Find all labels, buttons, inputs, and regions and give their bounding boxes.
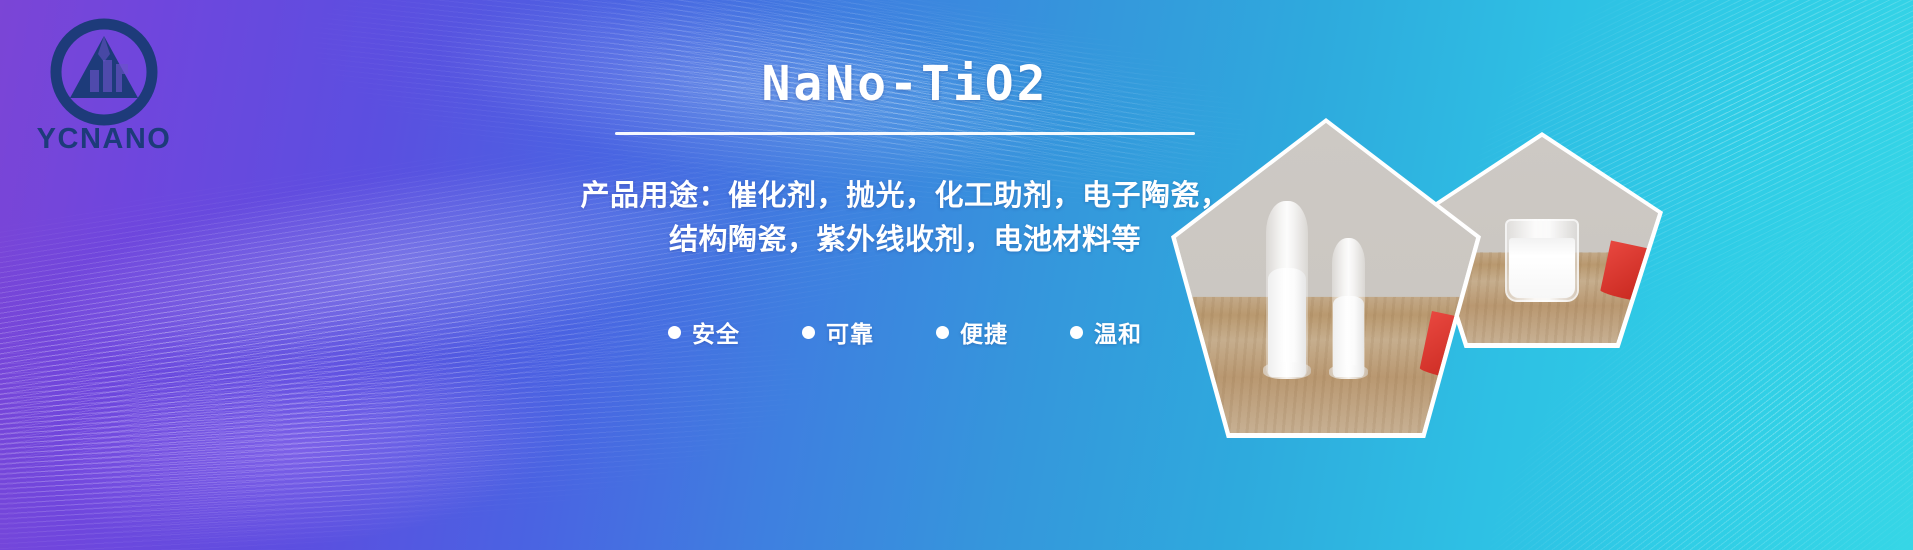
feature-item-reliable: 可靠 bbox=[802, 315, 874, 349]
feature-item-mild: 温和 bbox=[1070, 315, 1142, 349]
tall-vase-icon bbox=[1266, 201, 1308, 378]
white-vases-product-photo bbox=[1171, 118, 1481, 438]
brand-logo[interactable]: YCNANO bbox=[34, 14, 226, 164]
photo-scene bbox=[1176, 123, 1476, 433]
beaker-icon bbox=[1505, 219, 1579, 301]
feature-item-safe: 安全 bbox=[668, 315, 740, 349]
logo-circle-triangle-icon bbox=[56, 24, 152, 120]
feature-label: 温和 bbox=[1094, 315, 1142, 349]
product-banner: YCNANO NaNo-TiO2 产品用途：催化剂，抛光，化工助剂，电子陶瓷， … bbox=[0, 0, 1913, 550]
feature-label: 可靠 bbox=[826, 315, 874, 349]
dot-bullet-icon bbox=[668, 326, 681, 339]
dot-bullet-icon bbox=[1070, 326, 1083, 339]
title-divider bbox=[615, 132, 1195, 135]
product-photo-group bbox=[1153, 0, 1913, 550]
brand-wordmark: YCNANO bbox=[37, 123, 172, 155]
feature-label: 便捷 bbox=[960, 315, 1008, 349]
feature-label: 安全 bbox=[692, 315, 740, 349]
feature-item-convenient: 便捷 bbox=[936, 315, 1008, 349]
dot-bullet-icon bbox=[936, 326, 949, 339]
dot-bullet-icon bbox=[802, 326, 815, 339]
short-vase-icon bbox=[1332, 238, 1365, 378]
